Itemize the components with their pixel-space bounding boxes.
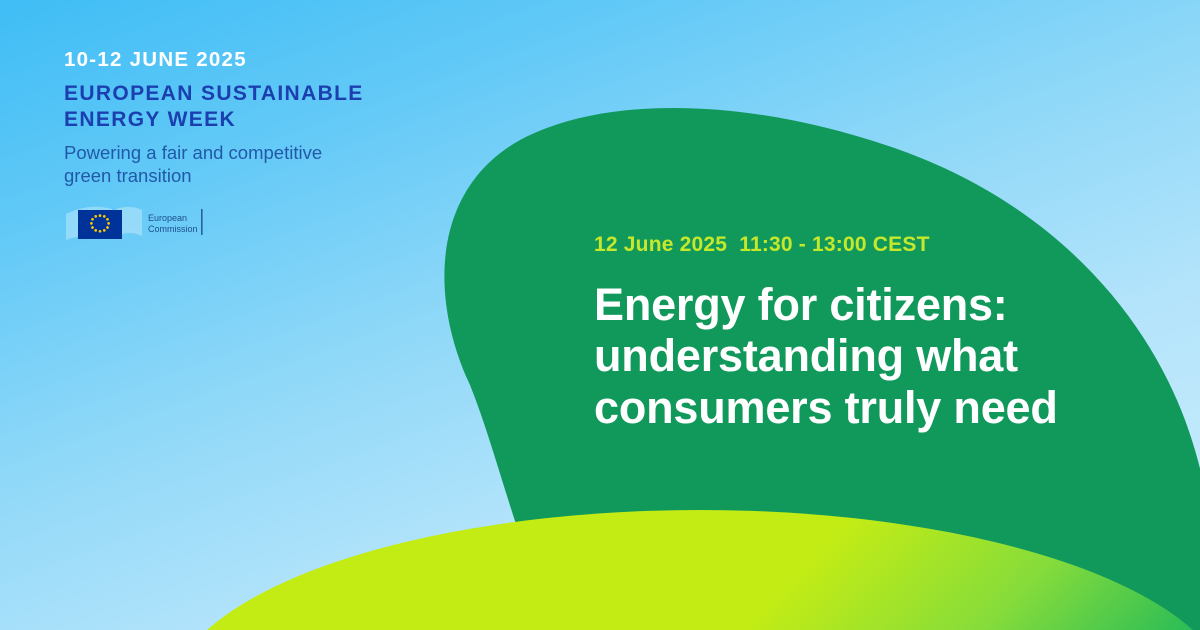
event-title: Energy for citizens: understanding what … — [594, 279, 1124, 433]
esw-title: EUROPEAN SUSTAINABLE ENERGY WEEK — [64, 81, 464, 134]
event-week-dates: 10-12 JUNE 2025 — [64, 48, 464, 72]
event-title-line1: Energy for citizens: — [594, 279, 1124, 330]
event-title-line2: understanding what — [594, 330, 1124, 381]
esw-branding: 10-12 JUNE 2025 EUROPEAN SUSTAINABLE ENE… — [64, 48, 464, 188]
logo-divider — [201, 209, 203, 235]
eu-commission-logo-icon: European Commission — [64, 200, 209, 246]
european-commission-logo: European Commission — [64, 200, 209, 246]
esw-tagline-line2: green transition — [64, 165, 464, 188]
esw-tagline-line1: Powering a fair and competitive — [64, 142, 464, 165]
event-datetime: 12 June 2025 11:30 - 13:00 CEST — [594, 232, 1124, 257]
esw-tagline: Powering a fair and competitive green tr… — [64, 142, 464, 188]
poster-canvas: 10-12 JUNE 2025 EUROPEAN SUSTAINABLE ENE… — [0, 0, 1200, 630]
event-details: 12 June 2025 11:30 - 13:00 CEST Energy f… — [594, 232, 1124, 433]
eu-logo-line2: Commission — [148, 224, 198, 234]
esw-title-line1: EUROPEAN SUSTAINABLE — [64, 81, 464, 107]
event-title-line3: consumers truly need — [594, 382, 1124, 433]
esw-title-line2: ENERGY WEEK — [64, 107, 464, 133]
eu-logo-line1: European — [148, 213, 187, 223]
